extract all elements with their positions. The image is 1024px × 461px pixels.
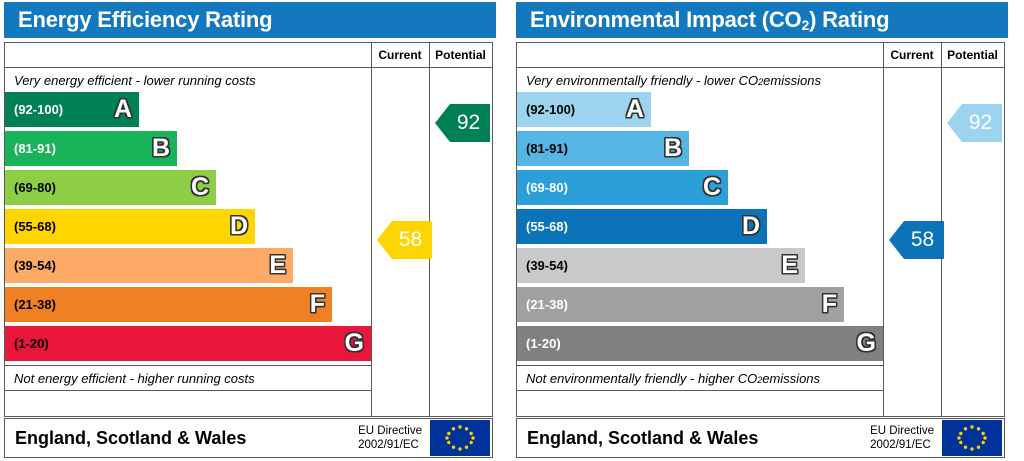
energy-band-bars: (92-100) A (81-91) B (69-80) C (55-68) D — [5, 92, 371, 365]
eu-flag-stars-icon — [430, 420, 490, 456]
caption-bottom: Not energy efficient - higher running co… — [5, 366, 371, 390]
region-label: England, Scotland & Wales — [5, 428, 358, 449]
band-bar-d: (55-68) D — [5, 209, 255, 244]
caption-top: Very energy efficient - lower running co… — [5, 68, 371, 92]
band-range-e: (39-54) — [517, 258, 568, 273]
band-range-g: (1-20) — [5, 336, 49, 351]
co2-chart-footer: England, Scotland & Wales EU Directive 2… — [516, 418, 1005, 458]
energy-chart-footer: England, Scotland & Wales EU Directive 2… — [4, 418, 493, 458]
band-range-a: (92-100) — [517, 102, 575, 117]
caption-top-sub: 2 — [758, 77, 763, 87]
band-letter-b: B — [152, 136, 170, 161]
eu-flag-icon — [942, 420, 1002, 456]
page-title-co2: Environmental Impact (CO2) Rating — [516, 7, 889, 33]
eu-flag-container — [940, 419, 1004, 457]
band-range-f: (21-38) — [517, 297, 568, 312]
band-bar-d: (55-68) D — [517, 209, 767, 244]
band-letter-e: E — [269, 253, 286, 278]
caption-top-suffix: emissions — [763, 73, 821, 88]
eu-flag-icon — [430, 420, 490, 456]
column-header-potential: Potential — [941, 43, 1004, 67]
band-bar-c: (69-80) C — [5, 170, 216, 205]
eu-flag-container — [428, 419, 492, 457]
eu-directive-line1: EU Directive — [358, 424, 422, 438]
potential-rating-arrow: 92 — [435, 104, 490, 142]
column-header-current: Current — [371, 43, 429, 67]
eu-directive-text: EU Directive 2002/91/EC — [870, 424, 940, 453]
band-letter-g: G — [345, 331, 364, 356]
current-rating-value: 58 — [387, 228, 422, 252]
co2-band-bars: (92-100) A (81-91) B (69-80) C (55-68) D… — [517, 92, 883, 365]
band-letter-b: B — [664, 136, 682, 161]
eu-directive-line2: 2002/91/EC — [358, 438, 422, 452]
environmental-impact-rating-chart: Environmental Impact (CO2) Rating Curren… — [512, 0, 1020, 461]
band-bar-b: (81-91) B — [5, 131, 177, 166]
current-column-divider — [371, 43, 372, 416]
eu-directive-line1: EU Directive — [870, 424, 934, 438]
eu-directive-line2: 2002/91/EC — [870, 438, 934, 452]
co2-title-suffix: ) Rating — [809, 7, 889, 32]
band-range-d: (55-68) — [5, 219, 56, 234]
bottom-caption-divider-bottom — [517, 390, 883, 391]
caption-top-prefix: Very environmentally friendly - lower CO — [526, 73, 758, 88]
current-rating-arrow: 58 — [377, 221, 432, 259]
column-header-potential: Potential — [429, 43, 492, 67]
band-bar-a: (92-100) A — [5, 92, 139, 127]
caption-bottom-prefix: Not environmentally friendly - higher CO — [526, 371, 757, 386]
band-letter-a: A — [626, 97, 644, 122]
band-range-c: (69-80) — [517, 180, 568, 195]
epc-charts-page: Energy Efficiency Rating Current Potenti… — [0, 0, 1024, 461]
caption-bottom: Not environmentally friendly - higher CO… — [517, 366, 883, 390]
band-letter-e: E — [781, 253, 798, 278]
band-letter-g: G — [857, 331, 876, 356]
band-letter-f: F — [310, 292, 325, 317]
caption-bottom-sub: 2 — [757, 375, 762, 385]
band-bar-e: (39-54) E — [5, 248, 293, 283]
band-bar-a: (92-100) A — [517, 92, 651, 127]
current-column-divider — [883, 43, 884, 416]
potential-rating-value: 92 — [445, 111, 480, 135]
band-bar-f: (21-38) F — [517, 287, 844, 322]
band-letter-d: D — [742, 214, 760, 239]
band-bar-e: (39-54) E — [517, 248, 805, 283]
band-range-f: (21-38) — [5, 297, 56, 312]
band-range-e: (39-54) — [5, 258, 56, 273]
band-letter-c: C — [191, 175, 209, 200]
page-title: Energy Efficiency Rating — [4, 7, 272, 33]
potential-rating-arrow: 92 — [947, 104, 1002, 142]
potential-rating-value: 92 — [957, 111, 992, 135]
band-letter-c: C — [703, 175, 721, 200]
eu-flag-stars-icon — [942, 420, 1002, 456]
energy-chart-frame: Current Potential Very energy efficient … — [4, 42, 493, 417]
band-letter-f: F — [822, 292, 837, 317]
band-bar-c: (69-80) C — [517, 170, 728, 205]
band-range-g: (1-20) — [517, 336, 561, 351]
band-letter-a: A — [114, 97, 132, 122]
band-bar-f: (21-38) F — [5, 287, 332, 322]
energy-chart-title-bar: Energy Efficiency Rating — [4, 2, 496, 38]
band-bar-g: (1-20) G — [5, 326, 371, 361]
band-bar-b: (81-91) B — [517, 131, 689, 166]
region-label: England, Scotland & Wales — [517, 428, 870, 449]
co2-chart-frame: Current Potential Very environmentally f… — [516, 42, 1005, 417]
band-range-d: (55-68) — [517, 219, 568, 234]
band-range-b: (81-91) — [5, 141, 56, 156]
current-rating-value: 58 — [899, 228, 934, 252]
co2-chart-title-bar: Environmental Impact (CO2) Rating — [516, 2, 1008, 38]
current-rating-arrow: 58 — [889, 221, 944, 259]
bottom-caption-divider-bottom — [5, 390, 371, 391]
energy-efficiency-rating-chart: Energy Efficiency Rating Current Potenti… — [0, 0, 508, 461]
band-range-b: (81-91) — [517, 141, 568, 156]
co2-title-prefix: Environmental Impact (CO — [530, 7, 801, 32]
column-header-current: Current — [883, 43, 941, 67]
band-range-a: (92-100) — [5, 102, 63, 117]
co2-title-sub: 2 — [801, 17, 809, 33]
band-bar-g: (1-20) G — [517, 326, 883, 361]
caption-top: Very environmentally friendly - lower CO… — [517, 68, 883, 92]
caption-bottom-suffix: emissions — [762, 371, 820, 386]
band-letter-d: D — [230, 214, 248, 239]
eu-directive-text: EU Directive 2002/91/EC — [358, 424, 428, 453]
band-range-c: (69-80) — [5, 180, 56, 195]
